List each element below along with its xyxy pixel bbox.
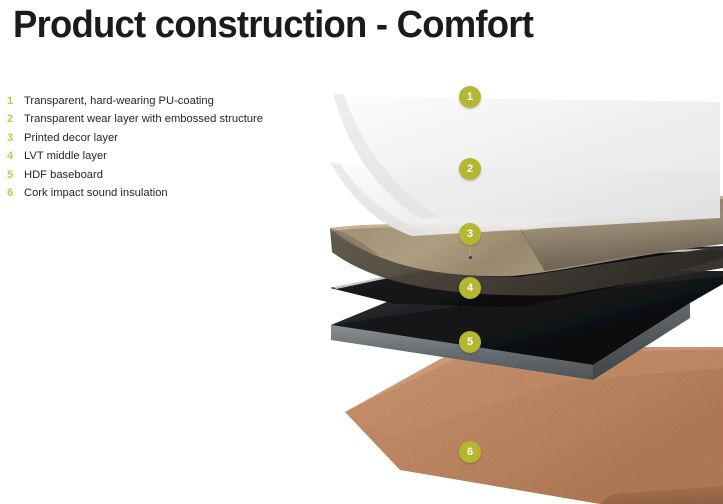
- layer-2-wear-layer: [330, 162, 720, 236]
- layer-4-lvt-middle-layer: [330, 246, 723, 308]
- layer-badge-3[interactable]: 3: [459, 223, 481, 245]
- legend-item-5: 5 HDF baseboard: [4, 166, 304, 184]
- legend-item-6: 6 Cork impact sound insulation: [4, 184, 304, 202]
- legend-label-2: Transparent wear layer with embossed str…: [24, 110, 263, 128]
- legend-item-1: 1 Transparent, hard-wearing PU-coating: [4, 92, 304, 110]
- legend-number-6: 6: [4, 184, 24, 202]
- layer-badge-1[interactable]: 1: [459, 86, 481, 108]
- legend-number-1: 1: [4, 92, 24, 110]
- layer-6-cork-insulation: [345, 347, 723, 504]
- layer-badge-2[interactable]: 2: [459, 158, 481, 180]
- layer-badge-6[interactable]: 6: [459, 441, 481, 463]
- layer-badge-5[interactable]: 5: [459, 331, 481, 353]
- legend-item-3: 3 Printed decor layer: [4, 129, 304, 147]
- layer-badge-4[interactable]: 4: [459, 277, 481, 299]
- layer-1-pu-coating: [333, 93, 720, 218]
- legend-number-5: 5: [4, 166, 24, 184]
- layer-separation-sheet: [328, 232, 723, 285]
- legend-item-4: 4 LVT middle layer: [4, 147, 304, 165]
- legend-item-2: 2 Transparent wear layer with embossed s…: [4, 110, 304, 128]
- product-construction-diagram: [0, 0, 723, 504]
- legend-number-3: 3: [4, 129, 24, 147]
- legend-label-4: LVT middle layer: [24, 147, 107, 165]
- legend-list: 1 Transparent, hard-wearing PU-coating 2…: [4, 92, 304, 202]
- legend-label-1: Transparent, hard-wearing PU-coating: [24, 92, 214, 110]
- legend-label-6: Cork impact sound insulation: [24, 184, 168, 202]
- layer-3-printed-decor-layer: [330, 196, 723, 295]
- layer-5-hdf-baseboard: [331, 271, 723, 380]
- legend-label-3: Printed decor layer: [24, 129, 118, 147]
- legend-number-2: 2: [4, 110, 24, 128]
- layer-stack-svg: [0, 0, 723, 504]
- page-title: Product construction - Comfort: [13, 2, 533, 48]
- badge-3-anchor-dot: [469, 256, 472, 259]
- legend-label-5: HDF baseboard: [24, 166, 103, 184]
- legend-number-4: 4: [4, 147, 24, 165]
